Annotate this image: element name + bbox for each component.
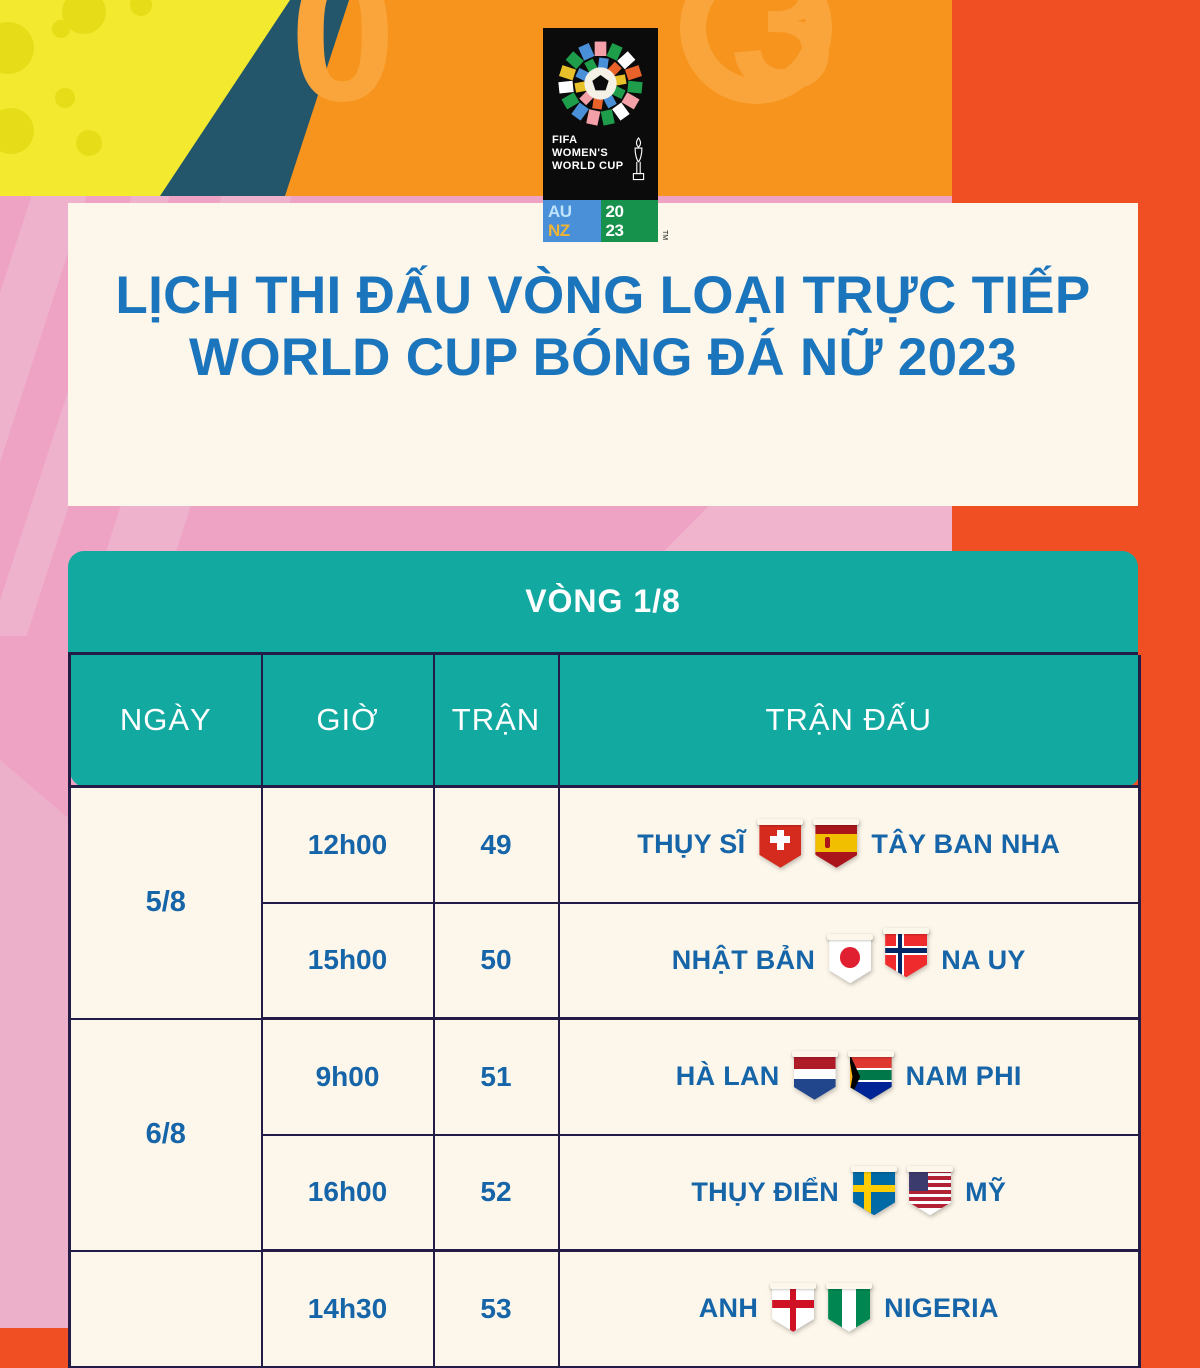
logo-au-nz-block: AU NZ bbox=[543, 200, 601, 242]
column-header-day: NGÀY bbox=[70, 655, 262, 787]
netherlands-flag-icon bbox=[794, 1054, 836, 1100]
header-row: NGÀY GIỜ TRẬN TRẬN ĐẤU bbox=[70, 655, 1140, 787]
page-title: LỊCH THI ĐẤU VÒNG LOẠI TRỰC TIẾP WORLD C… bbox=[68, 265, 1138, 389]
switzerland-flag-icon bbox=[759, 822, 801, 868]
column-header-match-no: TRẬN bbox=[434, 655, 559, 787]
logo-emblem-icon bbox=[553, 36, 648, 131]
cell-time: 16h00 bbox=[262, 1135, 434, 1251]
cell-match-no: 49 bbox=[434, 787, 559, 903]
schedule-table-wrapper: VÒNG 1/8 NGÀY GIỜ TRẬN TRẬN ĐẤU 5/8 12h0… bbox=[68, 551, 1138, 1368]
title-line-1: LỊCH THI ĐẤU VÒNG LOẠI TRỰC TIẾP bbox=[115, 266, 1090, 325]
team-away-name: MỸ bbox=[965, 1177, 1006, 1208]
column-header-fixture: TRẬN ĐẤU bbox=[559, 655, 1140, 787]
cell-time: 12h00 bbox=[262, 787, 434, 903]
team-away-name: TÂY BAN NHA bbox=[871, 829, 1060, 860]
team-away-name: NIGERIA bbox=[884, 1293, 999, 1324]
cell-fixture: THỤY SĨ TÂY BAN NHA bbox=[559, 787, 1140, 903]
logo-au-label: AU bbox=[548, 203, 572, 221]
cell-match-no: 53 bbox=[434, 1251, 559, 1367]
nigeria-flag-icon bbox=[828, 1286, 870, 1332]
cell-fixture: HÀ LAN NAM PHI bbox=[559, 1019, 1140, 1135]
england-flag-icon bbox=[772, 1286, 814, 1332]
team-away-name: NAM PHI bbox=[906, 1061, 1022, 1092]
yellow-dot bbox=[76, 130, 102, 156]
japan-flag-icon bbox=[829, 937, 871, 983]
south-africa-flag-icon bbox=[850, 1054, 892, 1100]
cell-fixture: THỤY ĐIỂN MỸ bbox=[559, 1135, 1140, 1251]
schedule-table: NGÀY GIỜ TRẬN TRẬN ĐẤU 5/8 12h00 49 THỤY… bbox=[68, 655, 1141, 1368]
spain-flag-icon bbox=[815, 822, 857, 868]
logo-year-top: 20 bbox=[606, 203, 624, 221]
logo-host-panel: AU NZ 20 23 TM bbox=[543, 200, 658, 242]
round-label: VÒNG 1/8 bbox=[525, 583, 681, 620]
yellow-dot bbox=[52, 20, 70, 38]
cell-match-no: 50 bbox=[434, 903, 559, 1019]
table-row[interactable]: 6/8 9h00 51 HÀ LAN bbox=[70, 1019, 1140, 1135]
logo-year-block: 20 23 bbox=[601, 200, 659, 242]
sweden-flag-icon bbox=[853, 1169, 895, 1215]
team-home-name: THỤY SĨ bbox=[637, 829, 745, 860]
logo-dark-panel: FIFA WOMEN'S WORLD CUP bbox=[543, 28, 658, 200]
norway-flag-icon bbox=[885, 931, 927, 977]
team-home-name: HÀ LAN bbox=[676, 1061, 780, 1092]
cell-match-no: 51 bbox=[434, 1019, 559, 1135]
cell-time: 9h00 bbox=[262, 1019, 434, 1135]
orange-ghost-numeral: 0 bbox=[290, 0, 396, 130]
team-away-name: NA UY bbox=[941, 945, 1026, 976]
trophy-icon bbox=[630, 136, 647, 184]
cell-day: 6/8 bbox=[70, 1019, 262, 1251]
cell-fixture: NHẬT BẢN NA UY bbox=[559, 903, 1140, 1019]
team-home-name: NHẬT BẢN bbox=[672, 945, 815, 976]
table-header: NGÀY GIỜ TRẬN TRẬN ĐẤU bbox=[70, 655, 1140, 787]
cell-day bbox=[70, 1251, 262, 1367]
team-home-name: THỤY ĐIỂN bbox=[691, 1177, 839, 1208]
orange-ghost-numeral: 3 bbox=[730, 0, 836, 118]
cell-match-no: 52 bbox=[434, 1135, 559, 1251]
logo-year-bottom: 23 bbox=[606, 222, 624, 240]
trademark-symbol: TM bbox=[661, 230, 668, 240]
column-header-time: GIỜ bbox=[262, 655, 434, 787]
table-row[interactable]: 5/8 12h00 49 THỤY SĨ TÂY BAN NHA bbox=[70, 787, 1140, 903]
united-states-flag-icon bbox=[909, 1169, 951, 1215]
cell-time: 14h30 bbox=[262, 1251, 434, 1367]
title-card: LỊCH THI ĐẤU VÒNG LOẠI TRỰC TIẾP WORLD C… bbox=[68, 203, 1138, 506]
table-body: 5/8 12h00 49 THỤY SĨ TÂY BAN NHA bbox=[70, 787, 1140, 1367]
team-home-name: ANH bbox=[699, 1293, 758, 1324]
fifa-womens-world-cup-logo: FIFA WOMEN'S WORLD CUP AU NZ 20 23 TM bbox=[543, 28, 658, 242]
round-banner: VÒNG 1/8 bbox=[68, 551, 1138, 655]
cell-day: 5/8 bbox=[70, 787, 262, 1019]
yellow-dot bbox=[55, 88, 75, 108]
table-row[interactable]: 14h30 53 ANH NIGERIA bbox=[70, 1251, 1140, 1367]
cell-time: 15h00 bbox=[262, 903, 434, 1019]
cell-fixture: ANH NIGERIA bbox=[559, 1251, 1140, 1367]
logo-nz-label: NZ bbox=[548, 222, 570, 240]
title-line-2: WORLD CUP BÓNG ĐÁ NỮ 2023 bbox=[68, 327, 1138, 389]
